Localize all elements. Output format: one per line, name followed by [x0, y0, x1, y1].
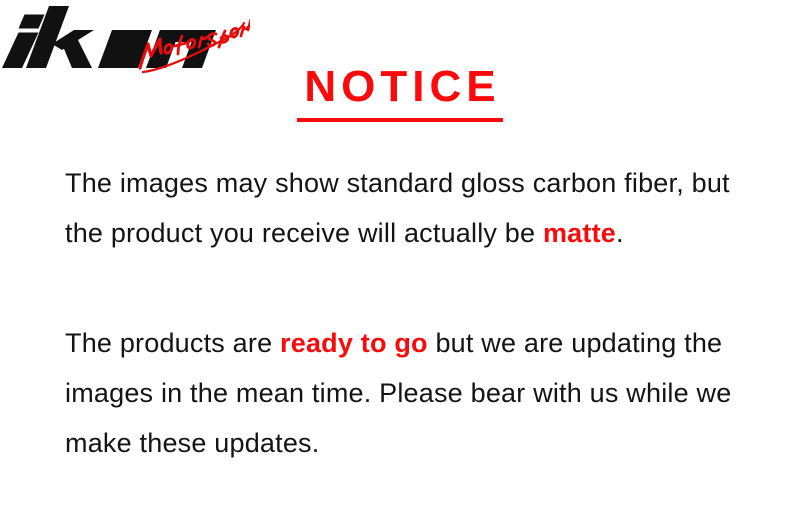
paragraph-one-emphasis-matte: matte	[543, 218, 616, 248]
notice-title: NOTICE	[297, 62, 502, 122]
paragraph-one-text-tail: .	[616, 218, 624, 248]
notice-heading: NOTICE	[0, 62, 800, 122]
notice-paragraph-one: The images may show standard gloss carbo…	[65, 158, 755, 258]
notice-paragraph-two: The products are ready to go but we are …	[65, 318, 755, 468]
paragraph-two-emphasis-ready-to-go: ready to go	[280, 328, 428, 358]
paragraph-one-text-lead: The images may show standard gloss carbo…	[65, 168, 730, 248]
notice-body: The images may show standard gloss carbo…	[65, 158, 755, 468]
paragraph-two-text-lead: The products are	[65, 328, 280, 358]
